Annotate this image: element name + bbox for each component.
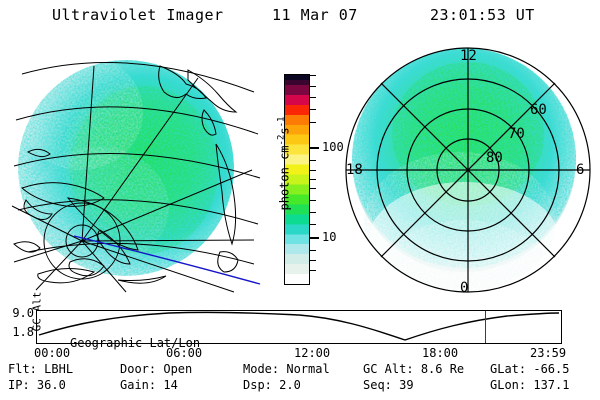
- colorbar-tick: [310, 224, 316, 225]
- colorbar-unit-mid: s: [278, 127, 292, 134]
- polar-grid: [346, 48, 590, 292]
- header-bar: Ultraviolet Imager 11 Mar 07 23:01:53 UT: [0, 6, 600, 30]
- status-ip: IP: 36.0: [8, 378, 66, 392]
- colorbar-tick-major: [310, 147, 319, 149]
- status-seq: Seq: 39: [363, 378, 414, 392]
- orbit-ytick-low: 1.8: [12, 325, 34, 339]
- status-dsp: Dsp: 2.0: [243, 378, 301, 392]
- status-door-value: Open: [163, 362, 192, 376]
- status-glon: GLon: 137.1: [490, 378, 569, 392]
- status-glat-label: GLat:: [490, 362, 526, 376]
- status-seq-value: 39: [399, 378, 413, 392]
- colorbar-tick: [310, 97, 316, 98]
- orbit-xtick-1200: 12:00: [294, 346, 330, 360]
- colorbar-tick: [310, 160, 316, 161]
- colorbar-group: 100 10 photon cm-2s-1: [262, 60, 340, 300]
- colorbar-tick-major: [310, 237, 319, 239]
- colorbar-tick: [310, 170, 316, 171]
- colorbar-tick: [310, 179, 316, 180]
- status-glat-value: -66.5: [533, 362, 569, 376]
- orbit-altitude-curve: [39, 312, 559, 340]
- colorbar-tick: [310, 250, 316, 251]
- mlat-label-70: 70: [508, 126, 525, 142]
- orbit-xtick-0600: 06:00: [166, 346, 202, 360]
- status-mode-value: Normal: [286, 362, 329, 376]
- status-gain-label: Gain:: [120, 378, 156, 392]
- status-gc-alt-label: GC Alt:: [363, 362, 414, 376]
- status-gain: Gain: 14: [120, 378, 178, 392]
- status-ip-label: IP:: [8, 378, 30, 392]
- status-gc-alt-value: 8.6 Re: [421, 362, 464, 376]
- orbit-xtick-2359: 23:59: [530, 346, 566, 360]
- apex-polar-panel[interactable]: 12 18 6 0 60 70 80 Apex MLat/MLT: [340, 42, 596, 298]
- colorbar-tick: [310, 122, 316, 123]
- mlat-label-60: 60: [530, 102, 547, 118]
- orbit-altitude-plot[interactable]: GC Alt: [36, 310, 562, 344]
- colorbar-unit-main: photon cm: [278, 145, 292, 210]
- observation-time: 23:01:53 UT: [430, 6, 535, 24]
- status-gain-value: 14: [163, 378, 177, 392]
- status-dsp-value: 2.0: [279, 378, 301, 392]
- status-bar: Flt: LBHL Door: Open Mode: Normal GC Alt…: [0, 362, 600, 396]
- status-seq-label: Seq:: [363, 378, 392, 392]
- status-glat: GLat: -66.5: [490, 362, 569, 376]
- status-flt-label: Flt:: [8, 362, 37, 376]
- colorbar-tick: [310, 75, 316, 76]
- colorbar-tick: [310, 109, 316, 110]
- status-mode-label: Mode:: [243, 362, 279, 376]
- colorbar-unit-exp1: -2: [277, 135, 287, 146]
- status-door: Door: Open: [120, 362, 192, 376]
- colorbar-unit-exp2: -1: [277, 117, 287, 128]
- status-gc-alt: GC Alt: 8.6 Re: [363, 362, 464, 376]
- status-dsp-label: Dsp:: [243, 378, 272, 392]
- orbit-xtick-1800: 18:00: [422, 346, 458, 360]
- mlt-label-18: 18: [346, 162, 363, 178]
- colorbar-tick: [310, 260, 316, 261]
- status-ip-value: 36.0: [37, 378, 66, 392]
- mlt-label-6: 6: [576, 162, 584, 178]
- colorbar-tick: [310, 86, 316, 87]
- colorbar-tick: [310, 212, 316, 213]
- status-glon-label: GLon:: [490, 378, 526, 392]
- colorbar-tick: [310, 188, 316, 189]
- orbit-xtick-0000: 00:00: [34, 346, 70, 360]
- status-glon-value: 137.1: [533, 378, 569, 392]
- status-mode: Mode: Normal: [243, 362, 330, 376]
- apex-plot-svg: 12 18 6 0 60 70 80: [340, 42, 596, 298]
- mlat-label-80: 80: [486, 150, 503, 166]
- colorbar-label-10: 10: [322, 230, 336, 244]
- aurora-emission-disc: [18, 54, 234, 276]
- geographic-image-panel[interactable]: Geographic Lat/Lon: [8, 48, 263, 293]
- orbit-track-svg: [37, 311, 561, 343]
- mlt-label-0: 0: [460, 280, 468, 296]
- status-flt-value: LBHL: [44, 362, 73, 376]
- status-door-label: Door:: [120, 362, 156, 376]
- colorbar-tick: [310, 270, 316, 271]
- orbit-ytick-high: 9.0: [12, 306, 34, 320]
- mlt-label-12: 12: [460, 48, 477, 64]
- colorbar-tick: [310, 200, 316, 201]
- observation-date: 11 Mar 07: [272, 6, 358, 24]
- status-flt: Flt: LBHL: [8, 362, 73, 376]
- geographic-plot-svg: [8, 48, 263, 293]
- page-title: Ultraviolet Imager: [52, 6, 224, 24]
- time-cursor[interactable]: [485, 311, 486, 343]
- colorbar-axis-label: photon cm-2s-1: [277, 94, 292, 234]
